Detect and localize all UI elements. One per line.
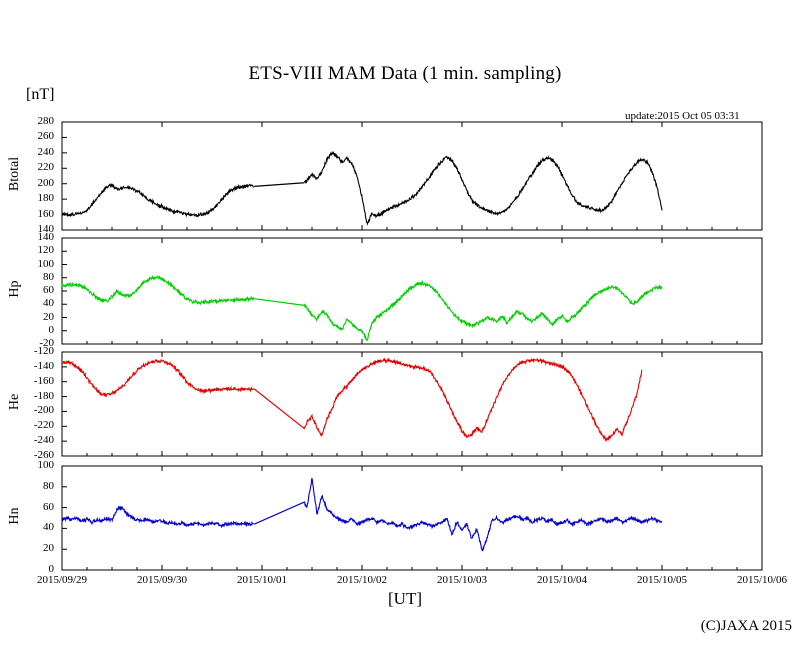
data-trace [304, 359, 642, 441]
page-title: ETS-VIII MAM Data (1 min. sampling) [0, 63, 810, 85]
unit-label: [nT] [26, 86, 54, 104]
panel-hn-plot [0, 0, 810, 655]
x-tick-label: 2015/09/30 [117, 574, 207, 586]
data-trace [62, 360, 254, 397]
copyright-credit: (C)JAXA 2015 [0, 618, 792, 635]
plot-frame [62, 122, 762, 230]
plot-frame [62, 238, 762, 344]
update-timestamp: update:2015 Oct 05 03:31 [625, 110, 740, 122]
data-trace [304, 282, 662, 341]
xaxis-title: [UT] [0, 589, 810, 609]
x-tick-label: 2015/10/04 [517, 574, 607, 586]
x-tick-label: 2015/10/02 [317, 574, 407, 586]
chart-page: ETS-VIII MAM Data (1 min. sampling) [nT]… [0, 0, 810, 655]
data-trace [304, 478, 662, 551]
panel-label-btotal: Btotal [7, 134, 23, 214]
panel-btotal-plot [0, 0, 810, 655]
x-tick-label: 2015/10/05 [617, 574, 707, 586]
data-gap-interpolation [254, 299, 304, 306]
plot-frame [62, 352, 762, 456]
panel-hp-plot [0, 0, 810, 655]
data-trace [62, 184, 254, 217]
x-tick-label: 2015/10/06 [717, 574, 807, 586]
data-gap-interpolation [254, 502, 304, 524]
y-tick-label: 140 [0, 231, 54, 243]
data-trace [62, 276, 254, 304]
data-trace [304, 152, 662, 224]
data-gap-interpolation [254, 183, 304, 187]
x-tick-label: 2015/10/03 [417, 574, 507, 586]
data-gap-interpolation [254, 389, 304, 429]
plot-frame [62, 466, 762, 570]
x-tick-label: 2015/10/01 [217, 574, 307, 586]
panel-he-plot [0, 0, 810, 655]
panel-label-hn: Hn [7, 476, 23, 556]
y-tick-label: 280 [0, 115, 54, 127]
panel-label-he: He [7, 362, 23, 442]
panel-label-hp: Hp [7, 249, 23, 329]
y-tick-label: 100 [0, 459, 54, 471]
y-tick-label: -120 [0, 345, 54, 357]
x-tick-label: 2015/09/29 [17, 574, 107, 586]
data-trace [62, 506, 254, 527]
